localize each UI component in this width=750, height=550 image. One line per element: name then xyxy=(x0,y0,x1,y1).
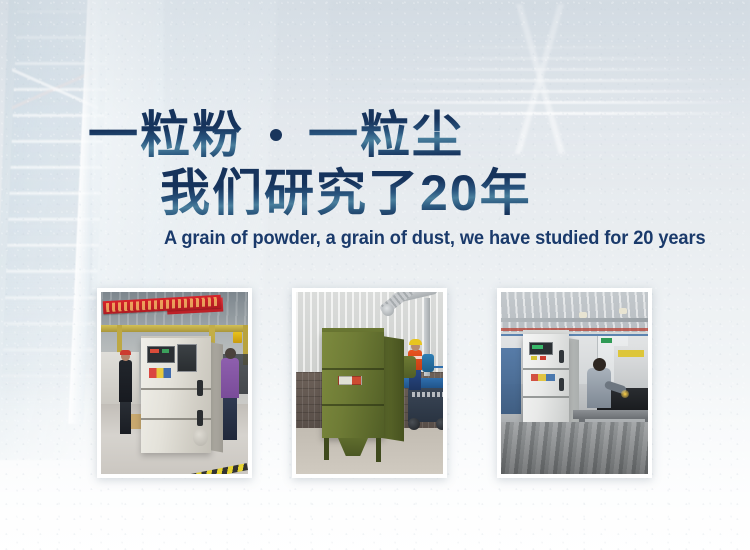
worker-right-head xyxy=(225,348,236,359)
photo-card-dust-collector-white[interactable] xyxy=(497,288,652,478)
worker-left-body xyxy=(119,360,132,402)
duct-joint xyxy=(382,304,394,316)
photo-2-image xyxy=(296,292,443,474)
collector-seam-upper xyxy=(322,368,384,370)
background-haze-top xyxy=(0,0,750,120)
photo-3-frame xyxy=(501,292,648,474)
headline-line-1: 一粒粉一粒尘 xyxy=(88,108,464,162)
photo-card-dust-collector-green[interactable] xyxy=(292,288,447,478)
worker-left-legs xyxy=(120,400,131,434)
control-panel-display xyxy=(532,345,543,349)
collector-seam-upper xyxy=(523,368,569,370)
collector-seam-lower xyxy=(322,404,384,406)
collector-leg-right xyxy=(376,438,381,462)
collector-door-panel xyxy=(177,344,197,372)
scissor-lift-branding xyxy=(412,392,443,397)
worker-helmet xyxy=(409,339,422,345)
photo-1-frame xyxy=(101,292,248,474)
photo-2-frame xyxy=(296,292,443,474)
grinding-sparks xyxy=(621,390,629,398)
control-panel-led-red xyxy=(150,349,159,353)
photo-3-image xyxy=(501,292,648,474)
metal-bar-shadow xyxy=(501,422,648,474)
background-blue-equipment xyxy=(501,348,521,414)
collector-handle-lower xyxy=(197,410,203,426)
control-button-yellow xyxy=(531,356,537,360)
worker-secondary xyxy=(422,354,434,372)
collector-side-panel xyxy=(382,336,404,441)
photo-card-dust-collector-grey[interactable] xyxy=(97,288,252,478)
ceiling-lamp-b xyxy=(619,308,627,314)
worker-right-body xyxy=(221,358,239,398)
exit-sign xyxy=(601,338,612,343)
scissor-lift-wheel-right xyxy=(436,418,443,430)
worker-left-cap xyxy=(120,350,131,355)
worker-right-legs xyxy=(223,396,237,440)
headline-line-1-part-2: 一粒尘 xyxy=(308,107,464,163)
yellow-beam-horizontal xyxy=(101,325,248,332)
headline-subtitle: A grain of powder, a grain of dust, we h… xyxy=(164,228,706,250)
yellow-column-a xyxy=(117,325,122,353)
collector-handle-upper xyxy=(559,350,564,363)
collector-label-sticker xyxy=(531,374,555,381)
background-yellow-marking xyxy=(618,350,644,357)
collector-leg-left xyxy=(324,438,329,460)
control-panel-led-green xyxy=(162,349,169,353)
background-left-diagonal-brace xyxy=(12,66,98,110)
control-button-red xyxy=(540,356,546,360)
dust-collector-body xyxy=(322,332,384,438)
scissor-lift-wheel-left xyxy=(408,418,420,430)
collector-inspection-port xyxy=(193,428,208,446)
worker-head xyxy=(593,358,606,371)
photo-row xyxy=(0,288,750,480)
background-ceiling-slats xyxy=(370,2,730,122)
headline-separator-dot xyxy=(270,129,282,141)
headline-line-2: 我们研究了20年 xyxy=(160,166,532,220)
roof-truss xyxy=(501,318,648,322)
collector-handle-upper xyxy=(197,380,203,396)
headline-line-1-part-1: 一粒粉 xyxy=(88,107,244,163)
collector-label-sticker xyxy=(338,376,362,385)
photo-1-image xyxy=(101,292,248,474)
collector-label-sticker xyxy=(149,368,171,378)
overhead-hoist xyxy=(233,332,242,343)
promo-banner: 一粒粉一粒尘 我们研究了20年 A grain of powder, a gra… xyxy=(0,0,750,550)
collector-handle-lower xyxy=(559,378,564,391)
collector-seam-lower xyxy=(523,396,569,398)
